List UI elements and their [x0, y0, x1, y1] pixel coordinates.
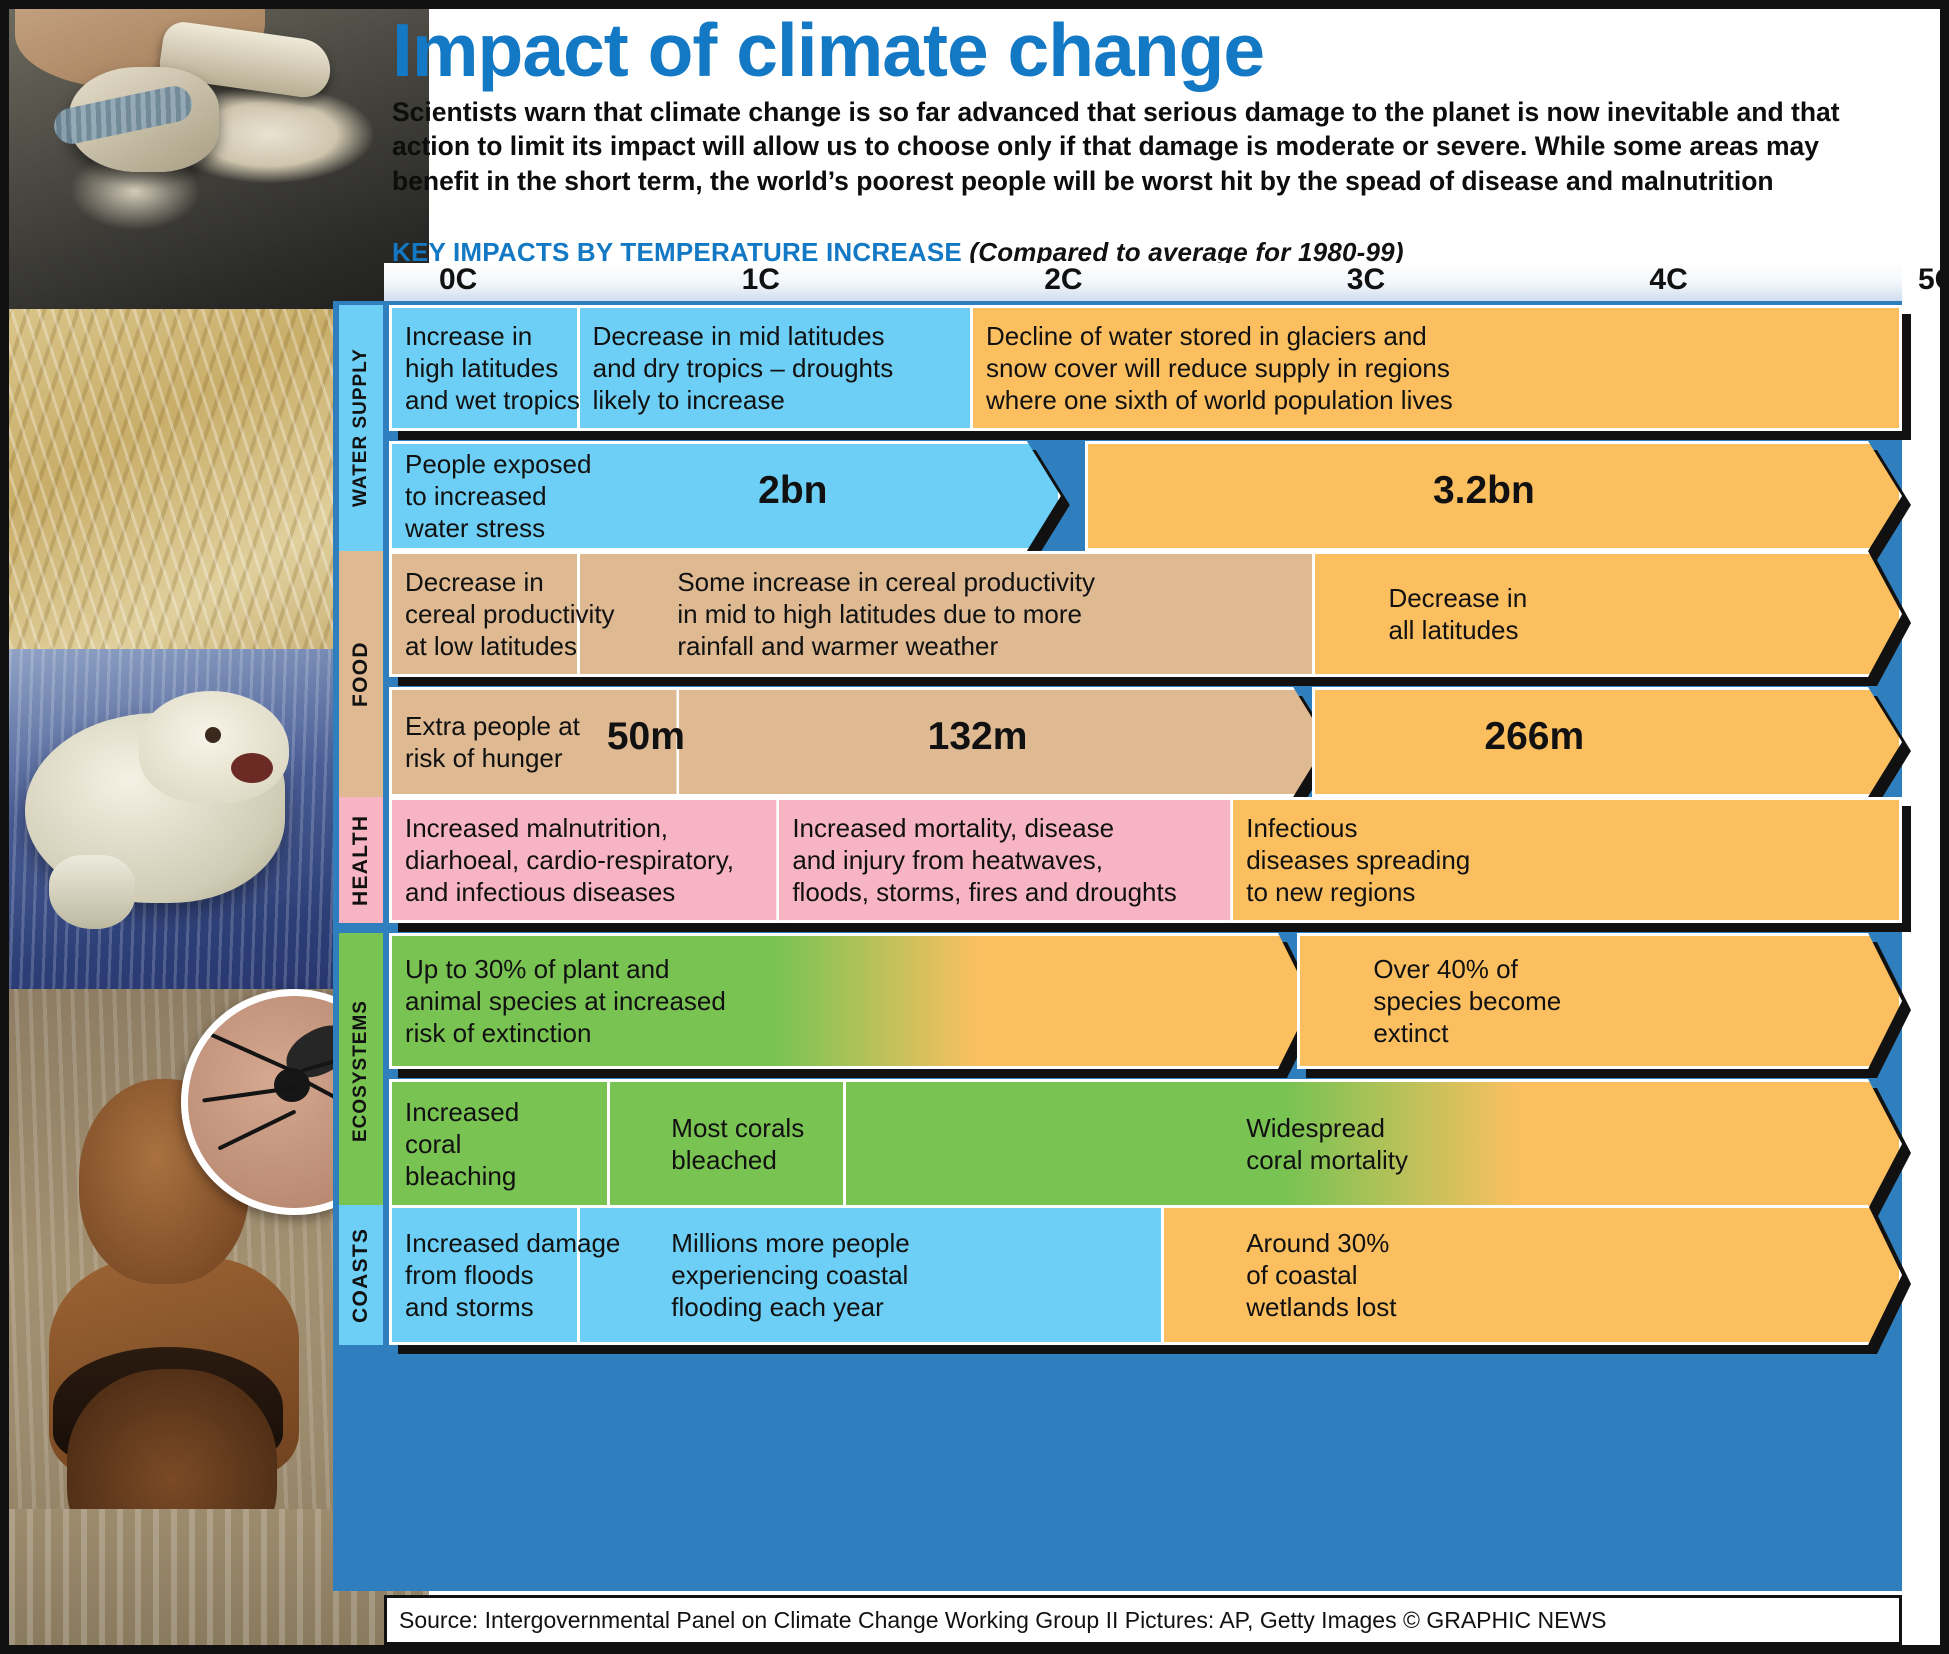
- impact-row: People exposed to increased water stress…: [389, 441, 1902, 551]
- impact-row: Increased malnutrition, diarhoeal, cardi…: [389, 797, 1902, 923]
- band-label: Increased damage from floods and storms: [405, 1227, 620, 1323]
- band-label: Increase in high latitudes and wet tropi…: [405, 320, 580, 416]
- tap-photo: [9, 9, 429, 339]
- scale-tick-2c: 2C: [1044, 263, 1082, 297]
- band-label: Increased mortality, disease and injury …: [792, 812, 1176, 908]
- bear-mouth-shape: [231, 753, 273, 783]
- page-title: Impact of climate change: [392, 13, 1264, 88]
- impact-band[interactable]: [1312, 687, 1902, 797]
- band-value: 50m: [607, 715, 685, 759]
- impact-row: Increased coral bleachingMost corals ble…: [389, 1079, 1902, 1209]
- band-value: 2bn: [758, 469, 827, 513]
- band-value: 3.2bn: [1433, 469, 1535, 513]
- category-label-food: FOOD: [339, 551, 383, 797]
- band-label: Increased malnutrition, diarhoeal, cardi…: [405, 812, 734, 908]
- band-label: Decrease in cereal productivity at low l…: [405, 566, 615, 662]
- mosquito-leg-icon: [207, 1031, 293, 1072]
- band-label: Up to 30% of plant and animal species at…: [405, 953, 726, 1049]
- band-label: Decline of water stored in glaciers and …: [986, 320, 1453, 416]
- band-label: People exposed to increased water stress: [405, 448, 591, 544]
- band-label: Most corals bleached: [671, 1112, 804, 1176]
- band-label: Infectious diseases spreading to new reg…: [1246, 812, 1470, 908]
- impact-row: Increased damage from floods and stormsM…: [389, 1205, 1902, 1345]
- mosquito-leg-icon: [217, 1109, 296, 1150]
- scale-tick-0c: 0C: [439, 263, 477, 297]
- intro-paragraph: Scientists warn that climate change is s…: [392, 95, 1877, 198]
- band-value: 132m: [928, 715, 1028, 759]
- impact-row: Increase in high latitudes and wet tropi…: [389, 305, 1902, 431]
- impact-row: Up to 30% of plant and animal species at…: [389, 933, 1902, 1069]
- band-label: Around 30% of coastal wetlands lost: [1246, 1227, 1396, 1323]
- content-area: Impact of climate change Scientists warn…: [429, 9, 1940, 1645]
- impact-row: Decrease in cereal productivity at low l…: [389, 551, 1902, 677]
- band-label: Decrease in mid latitudes and dry tropic…: [593, 320, 894, 416]
- band-label: Decrease in all latitudes: [1388, 582, 1527, 646]
- impacts-chart: WATER SUPPLYIncrease in high latitudes a…: [333, 301, 1902, 1591]
- scale-tick-5c: 5C: [1918, 263, 1949, 297]
- source-footer: Source: Intergovernmental Panel on Clima…: [384, 1595, 1902, 1645]
- bear-leg-shape: [49, 855, 135, 929]
- impact-row: Extra people at risk of hunger50m132m266…: [389, 687, 1902, 797]
- category-label-ecosystems: ECOSYSTEMS: [339, 933, 383, 1209]
- band-label: Over 40% of species become extinct: [1373, 953, 1561, 1049]
- bear-eye-shape: [205, 727, 221, 743]
- bear-head-shape: [139, 691, 289, 803]
- source-text: Source: Intergovernmental Panel on Clima…: [387, 1607, 1607, 1634]
- band-label: Increased coral bleaching: [405, 1096, 519, 1192]
- infographic-page: Impact of climate change Scientists warn…: [0, 0, 1949, 1654]
- category-label-health: HEALTH: [339, 797, 383, 923]
- scale-tick-1c: 1C: [742, 263, 780, 297]
- band-label: Widespread coral mortality: [1246, 1112, 1408, 1176]
- band-label: Millions more people experiencing coasta…: [671, 1227, 909, 1323]
- scale-tick-4c: 4C: [1649, 263, 1687, 297]
- category-label-water-supply: WATER SUPPLY: [339, 305, 383, 551]
- band-label: Some increase in cereal productivity in …: [677, 566, 1095, 662]
- category-label-coasts: COASTS: [339, 1205, 383, 1345]
- band-label: Extra people at risk of hunger: [405, 710, 580, 774]
- scale-tick-3c: 3C: [1347, 263, 1385, 297]
- band-value: 266m: [1484, 715, 1584, 759]
